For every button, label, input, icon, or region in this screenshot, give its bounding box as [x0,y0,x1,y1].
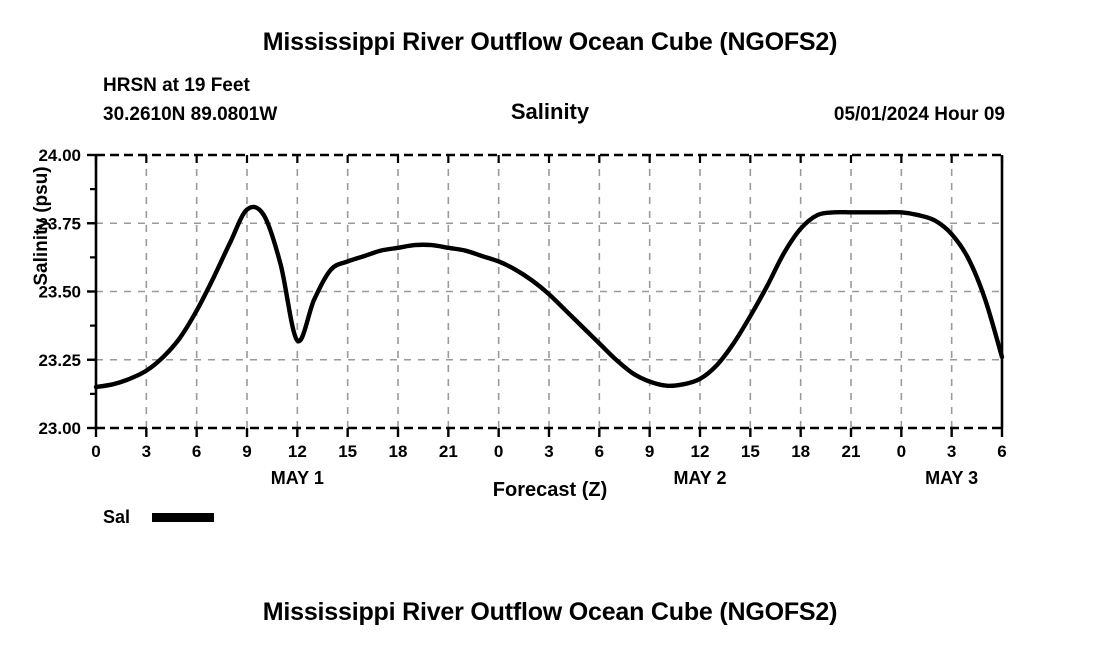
svg-text:0: 0 [897,442,906,461]
svg-text:9: 9 [242,442,251,461]
svg-text:0: 0 [91,442,100,461]
axis-tick-labels: 23.0023.2523.5023.7524.00036912151821036… [38,146,1006,488]
svg-text:18: 18 [791,442,810,461]
svg-text:15: 15 [338,442,357,461]
svg-text:23.25: 23.25 [38,351,81,370]
chart-legend: Sal [103,507,214,528]
svg-text:6: 6 [192,442,201,461]
svg-text:15: 15 [741,442,760,461]
svg-text:21: 21 [842,442,861,461]
chart-container: 23.0023.2523.5023.7524.00036912151821036… [0,0,1100,650]
svg-text:9: 9 [645,442,654,461]
legend-label-sal: Sal [103,507,130,528]
svg-text:12: 12 [288,442,307,461]
svg-text:6: 6 [595,442,604,461]
svg-text:3: 3 [544,442,553,461]
axis-ticks [87,155,1002,437]
x-axis-label: Forecast (Z) [0,479,1100,502]
svg-text:21: 21 [439,442,458,461]
svg-text:3: 3 [947,442,956,461]
footer-title: Mississippi River Outflow Ocean Cube (NG… [0,598,1100,627]
svg-text:18: 18 [389,442,408,461]
svg-text:6: 6 [997,442,1006,461]
svg-text:23.00: 23.00 [38,419,81,438]
y-axis-label: Salinity (psu) [31,126,53,326]
svg-text:0: 0 [494,442,503,461]
salinity-line-chart: 23.0023.2523.5023.7524.00036912151821036… [0,0,1100,650]
legend-swatch-sal [152,513,214,522]
svg-text:12: 12 [691,442,710,461]
svg-text:3: 3 [142,442,151,461]
